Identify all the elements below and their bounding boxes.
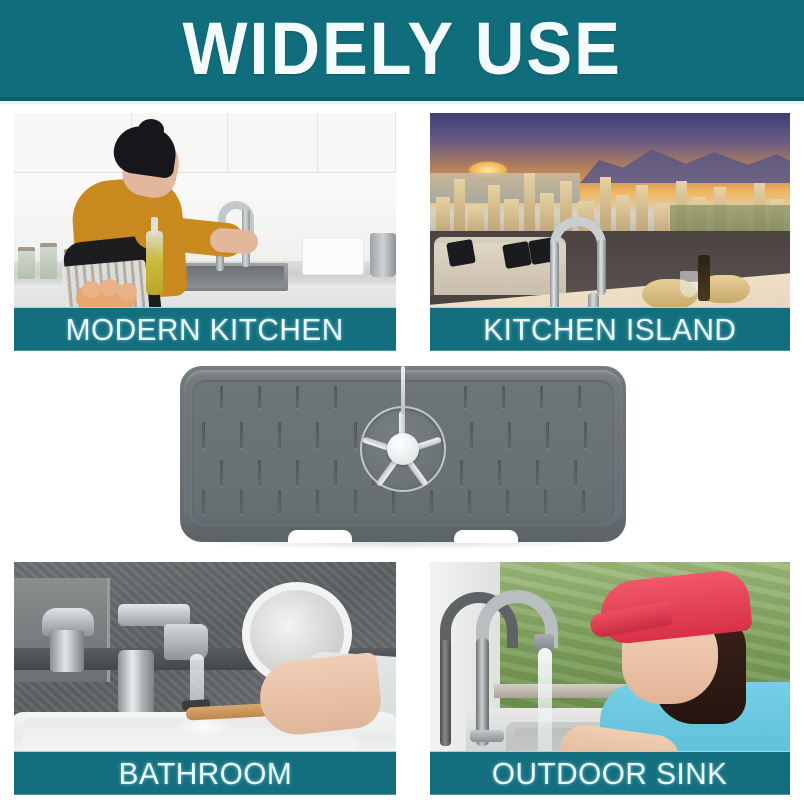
drain-groove	[316, 422, 319, 448]
drain-groove	[540, 386, 543, 408]
drain-groove	[296, 386, 299, 408]
drain-groove	[584, 422, 587, 448]
drain-groove	[546, 422, 549, 448]
mat-top-slit	[401, 366, 405, 414]
tile-modern-kitchen[interactable]: MODERN KITCHEN	[14, 113, 396, 351]
drain-groove	[536, 460, 539, 486]
drain-groove	[582, 490, 585, 514]
caption-bar-outdoor-sink: OUTDOOR SINK	[430, 751, 790, 795]
mat-front-edge	[188, 524, 618, 542]
drain-groove	[430, 490, 433, 514]
drain-groove	[240, 422, 243, 448]
drain-groove	[258, 386, 261, 408]
drain-groove	[278, 490, 281, 514]
drain-groove	[574, 460, 577, 486]
drain-groove	[506, 490, 509, 514]
drain-groove	[334, 460, 337, 486]
drain-groove	[202, 422, 205, 448]
caption-bar-bathroom: BATHROOM	[14, 751, 396, 795]
drain-groove	[460, 460, 463, 486]
drain-groove	[220, 460, 223, 486]
tile-kitchen-island[interactable]: KITCHEN ISLAND	[430, 113, 790, 351]
drain-groove	[464, 386, 467, 408]
page-title: WIDELY USE	[182, 12, 621, 86]
drain-groove	[316, 490, 319, 514]
drain-groove	[296, 460, 299, 486]
drain-groove	[354, 422, 357, 448]
drain-groove	[508, 422, 511, 448]
drain-groove	[334, 386, 337, 408]
product-silicone-faucet-mat[interactable]	[180, 366, 626, 550]
faucet-hole-center	[387, 433, 419, 465]
banner-glow-line	[0, 101, 804, 104]
drain-groove	[468, 490, 471, 514]
caption-bar-modern-kitchen: MODERN KITCHEN	[14, 307, 396, 351]
drain-groove	[258, 460, 261, 486]
drain-groove	[278, 422, 281, 448]
drain-groove	[392, 490, 395, 514]
tile-bathroom[interactable]: BATHROOM	[14, 562, 396, 795]
drain-groove	[202, 490, 205, 514]
header-banner: WIDELY USE	[0, 0, 804, 97]
drain-groove	[354, 490, 357, 514]
mat-body	[180, 366, 626, 542]
drain-groove	[544, 490, 547, 514]
caption-text-kitchen-island: KITCHEN ISLAND	[483, 312, 736, 348]
drain-groove	[502, 386, 505, 408]
caption-text-bathroom: BATHROOM	[118, 756, 292, 792]
caption-text-outdoor-sink: OUTDOOR SINK	[492, 756, 728, 792]
drain-groove	[470, 422, 473, 448]
drain-groove	[220, 386, 223, 408]
mat-drip-notch-right	[454, 530, 518, 543]
drain-groove	[578, 386, 581, 408]
drain-groove	[498, 460, 501, 486]
mat-drip-notch-left	[288, 530, 352, 543]
caption-bar-kitchen-island: KITCHEN ISLAND	[430, 307, 790, 351]
tile-outdoor-sink[interactable]: OUTDOOR SINK	[430, 562, 790, 795]
drain-groove	[240, 490, 243, 514]
caption-text-modern-kitchen: MODERN KITCHEN	[66, 312, 344, 348]
